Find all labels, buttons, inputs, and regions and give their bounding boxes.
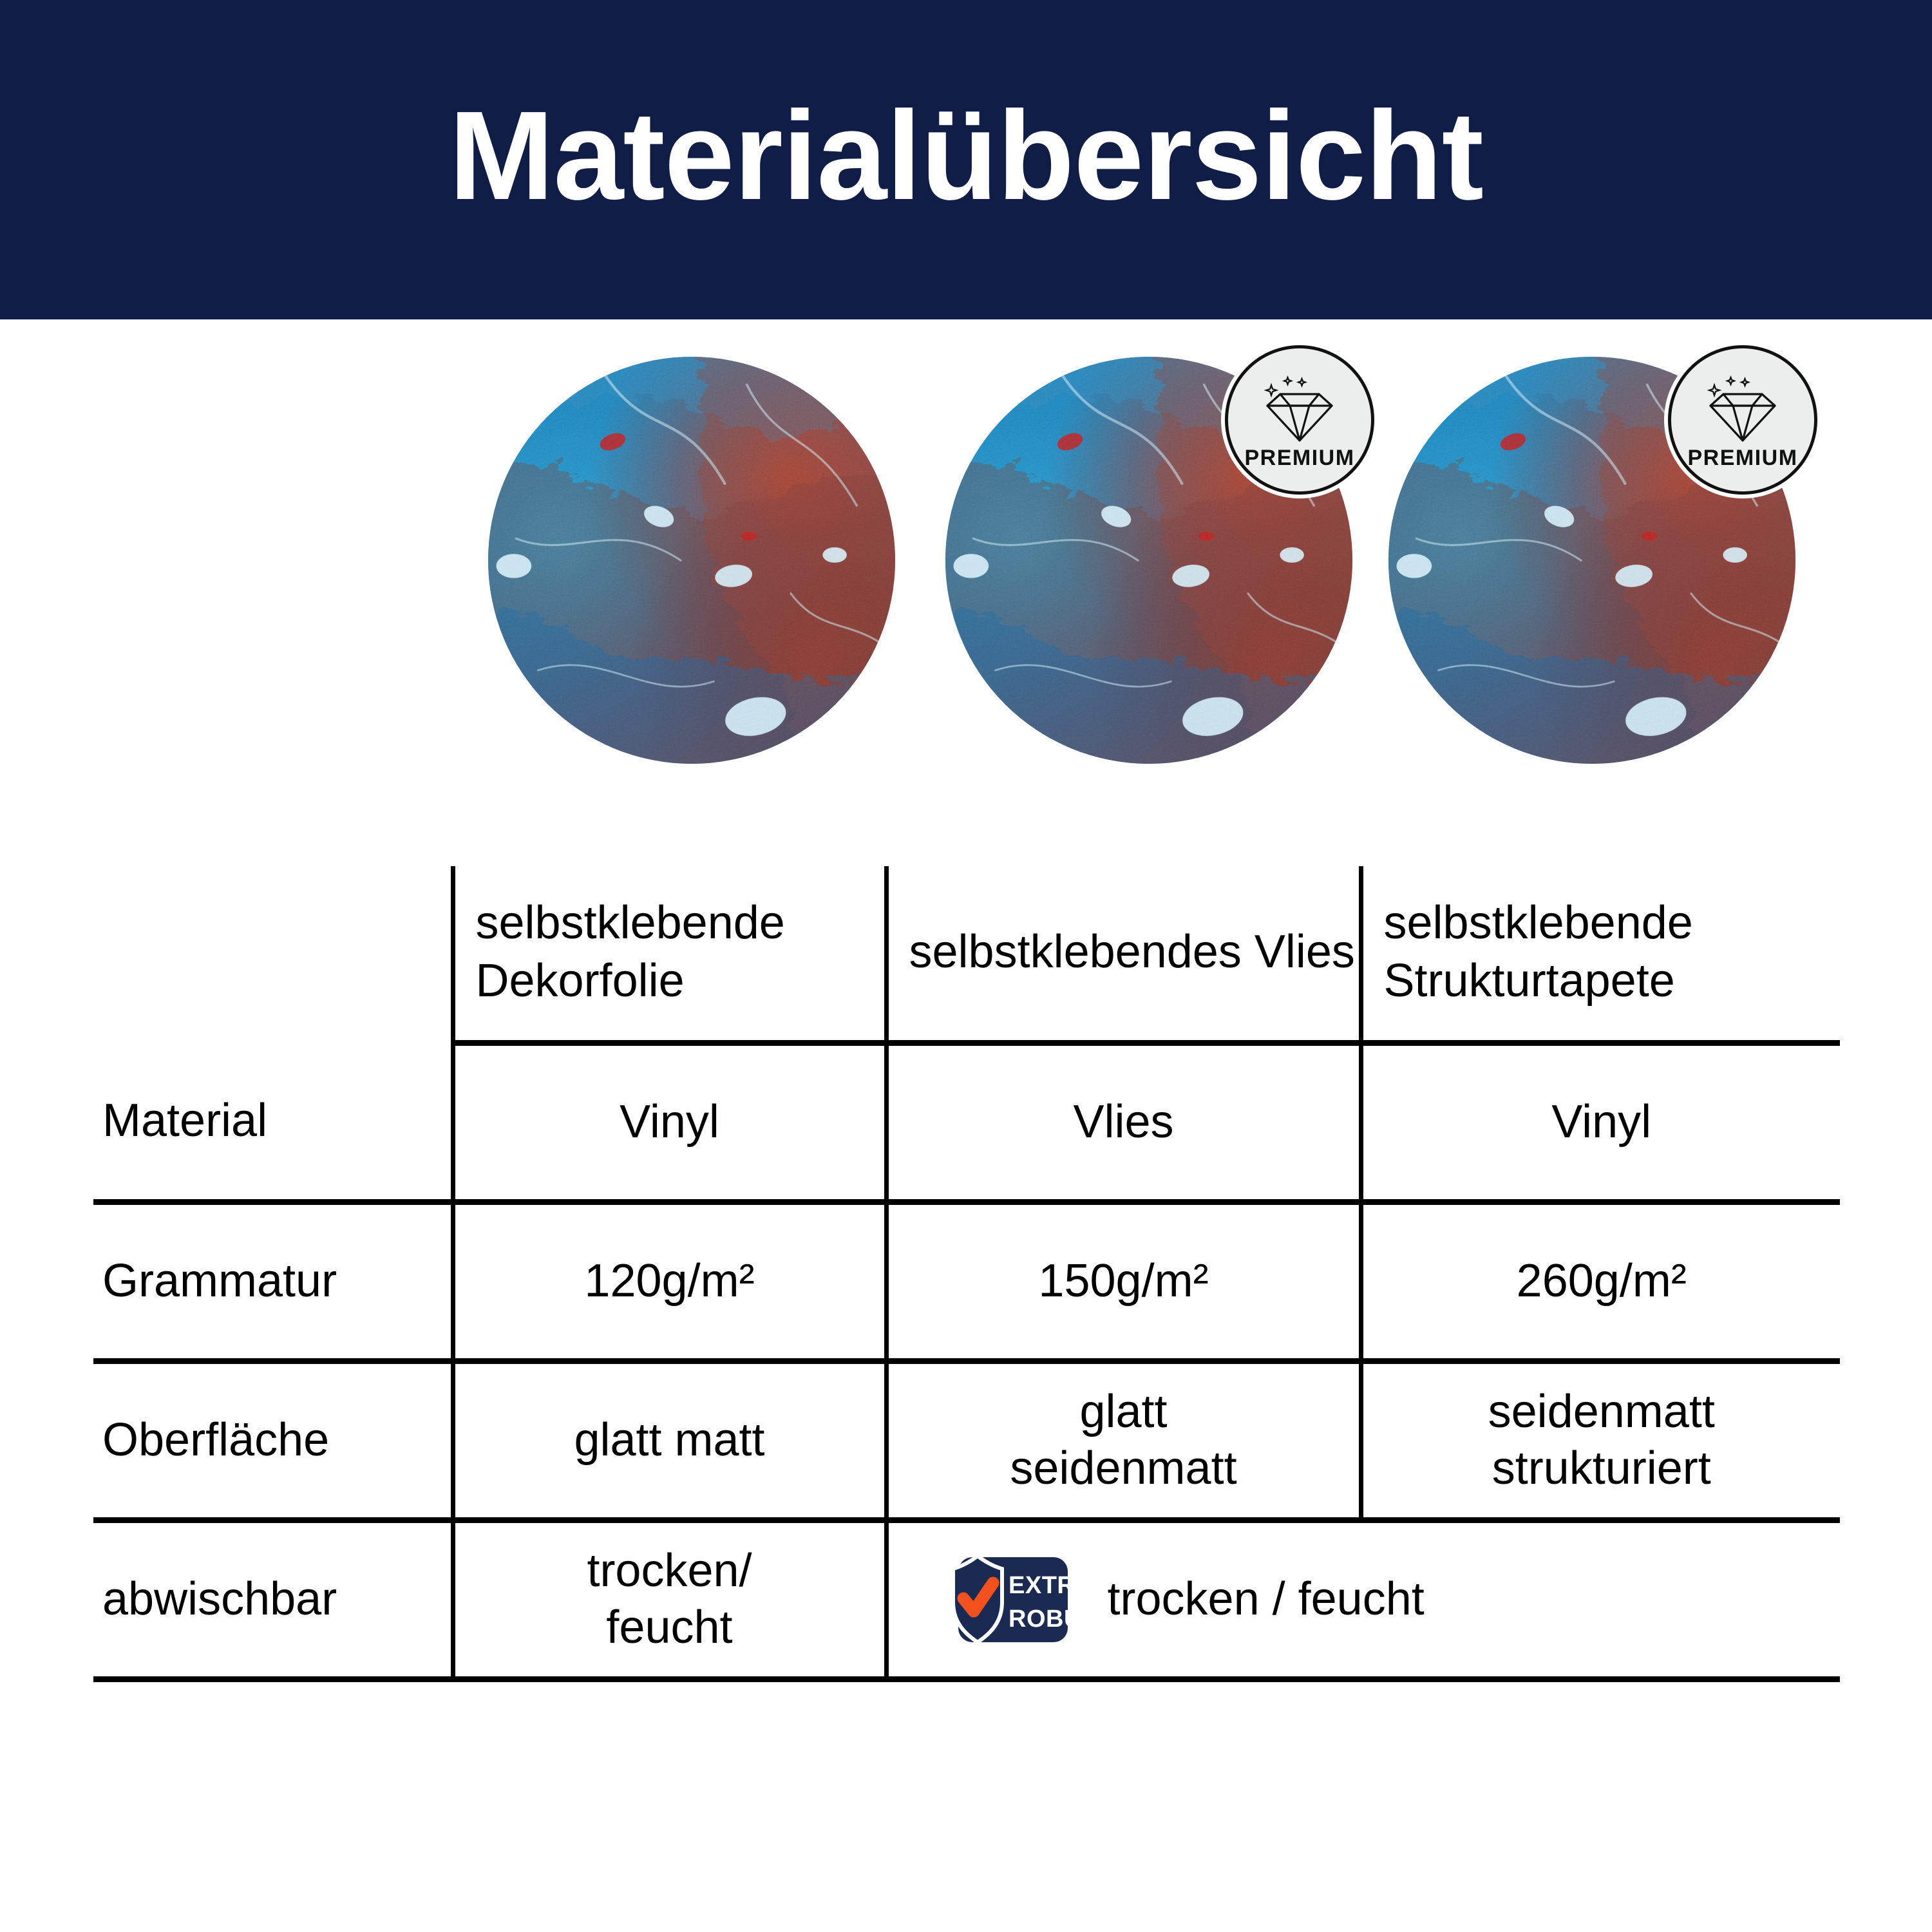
product-swatch-vlies[interactable]: PREMIUM: [945, 357, 1352, 764]
cell-abwischbar-dekorfolie: trocken/feucht: [453, 1520, 886, 1680]
column-header-vlies: selbstklebendes Vlies: [886, 866, 1361, 1043]
table-row: Grammatur 120g/m² 150g/m² 260g/m²: [93, 1202, 1840, 1361]
premium-badge: PREMIUM: [1225, 345, 1374, 495]
product-swatch-row: PREMIUM: [0, 354, 1932, 766]
cell-grammatur-strukturtapete: 260g/m²: [1361, 1202, 1840, 1361]
cell-abwischbar-merged-text: trocken / feucht: [1108, 1571, 1425, 1628]
row-label-abwischbar: abwischbar: [93, 1520, 453, 1680]
column-header-strukturtapete: selbstklebende Strukturtapete: [1361, 866, 1840, 1043]
premium-badge-label: PREMIUM: [1244, 447, 1354, 469]
page-title: Materialübersicht: [449, 93, 1483, 219]
table-row: Oberfläche glatt matt glattseidenmatt se…: [93, 1361, 1840, 1520]
product-swatch-strukturtapete[interactable]: PREMIUM: [1388, 357, 1795, 764]
cell-abwischbar-merged: EXTRA ROBUST trocken / feucht: [886, 1520, 1840, 1680]
extra-robust-line1: EXTRA: [1009, 1572, 1070, 1599]
product-swatch-dekorfolie[interactable]: [488, 357, 895, 764]
cell-oberflaeche-dekorfolie: glatt matt: [453, 1361, 886, 1520]
diamond-icon: [1261, 375, 1338, 446]
table-header-row: selbstklebende Dekorfolie selbstklebende…: [93, 866, 1840, 1043]
extra-robust-badge: EXTRA ROBUST: [944, 1552, 1070, 1647]
cell-oberflaeche-strukturtapete: seidenmattstrukturiert: [1361, 1361, 1840, 1520]
abstract-paint-texture: [488, 357, 895, 764]
cell-grammatur-dekorfolie: 120g/m²: [453, 1202, 886, 1361]
row-label-oberflaeche: Oberfläche: [93, 1361, 453, 1520]
cell-material-strukturtapete: Vinyl: [1361, 1043, 1840, 1202]
row-label-material: Material: [93, 1043, 453, 1202]
extra-robust-line2: ROBUST: [1009, 1605, 1070, 1633]
header-banner: Materialübersicht: [0, 0, 1932, 319]
premium-badge: PREMIUM: [1668, 345, 1817, 495]
table-corner-cell: [93, 866, 453, 1043]
swatch-circle: [488, 357, 895, 764]
table-row: Material Vinyl Vlies Vinyl: [93, 1043, 1840, 1202]
cell-material-dekorfolie: Vinyl: [453, 1043, 886, 1202]
column-header-dekorfolie: selbstklebende Dekorfolie: [453, 866, 886, 1043]
material-comparison-table: selbstklebende Dekorfolie selbstklebende…: [93, 866, 1840, 1682]
premium-badge-label: PREMIUM: [1687, 447, 1797, 469]
cell-material-vlies: Vlies: [886, 1043, 1361, 1202]
diamond-icon: [1704, 375, 1781, 446]
cell-oberflaeche-vlies: glattseidenmatt: [886, 1361, 1361, 1520]
row-label-grammatur: Grammatur: [93, 1202, 453, 1361]
cell-grammatur-vlies: 150g/m²: [886, 1202, 1361, 1361]
table-row: abwischbar trocken/feucht EXTRA ROBUST t…: [93, 1520, 1840, 1680]
